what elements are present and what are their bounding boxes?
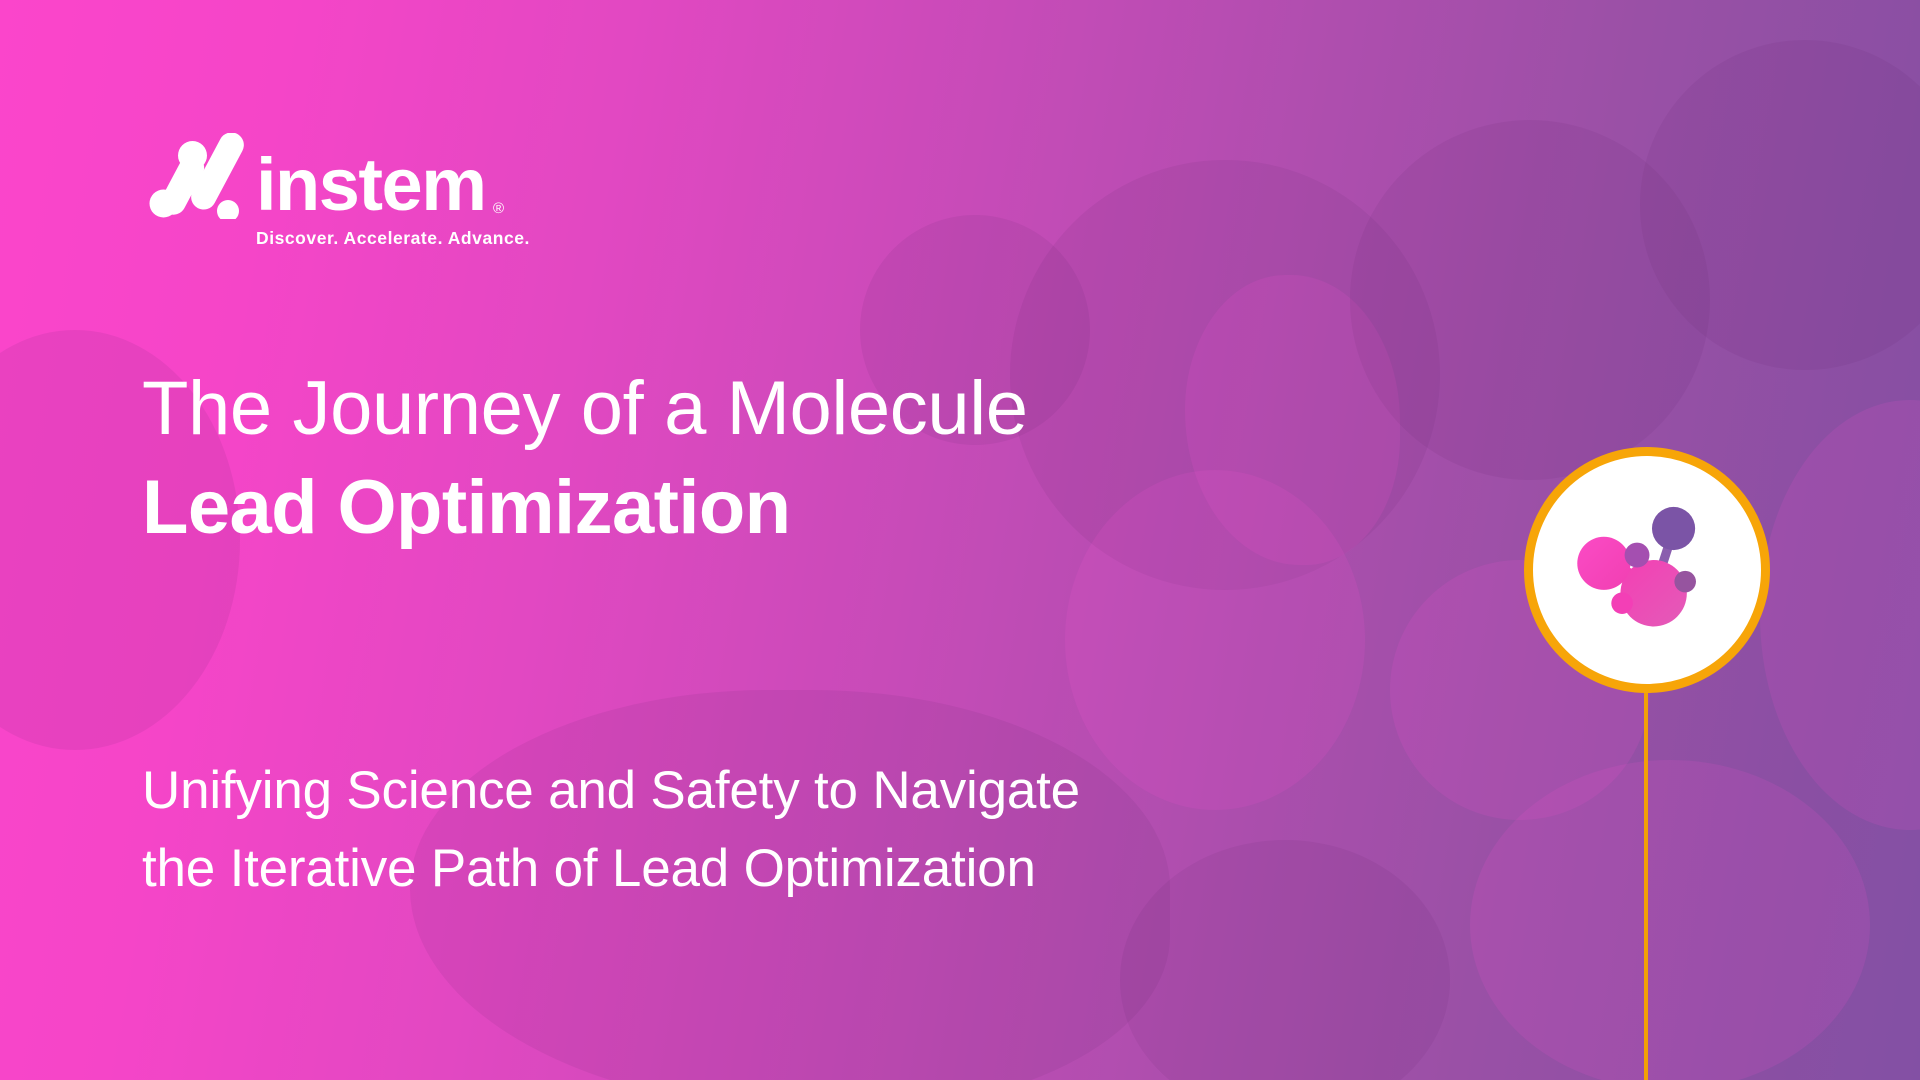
title-line-primary: The Journey of a Molecule: [142, 360, 1392, 459]
decorative-blob: [1350, 120, 1710, 480]
registered-trademark-icon: ®: [493, 202, 503, 216]
brand-tagline: Discover. Accelerate. Advance.: [256, 228, 522, 249]
instem-slashes-icon: [142, 133, 246, 219]
brand-logo: instem ® Discover. Accelerate. Advance.: [142, 133, 522, 249]
presentation-slide: instem ® Discover. Accelerate. Advance. …: [0, 0, 1920, 1080]
subtitle-line-2: the Iterative Path of Lead Optimization: [142, 830, 1462, 908]
decorative-blob: [1760, 400, 1920, 830]
logo-row: instem ®: [142, 133, 522, 219]
page-subtitle: Unifying Science and Safety to Navigate …: [142, 752, 1462, 909]
molecule-badge: [1524, 447, 1770, 693]
decorative-blob: [1640, 40, 1920, 370]
molecule-icon: [1564, 487, 1730, 653]
subtitle-line-1: Unifying Science and Safety to Navigate: [142, 752, 1462, 830]
page-title: The Journey of a Molecule Lead Optimizat…: [142, 360, 1392, 558]
decorative-blob: [1470, 760, 1870, 1080]
badge-stem: [1644, 690, 1648, 1080]
logo-wordmark: instem ®: [256, 151, 486, 219]
logo-wordmark-text: instem: [256, 143, 486, 226]
title-line-emphasis: Lead Optimization: [142, 459, 1392, 558]
